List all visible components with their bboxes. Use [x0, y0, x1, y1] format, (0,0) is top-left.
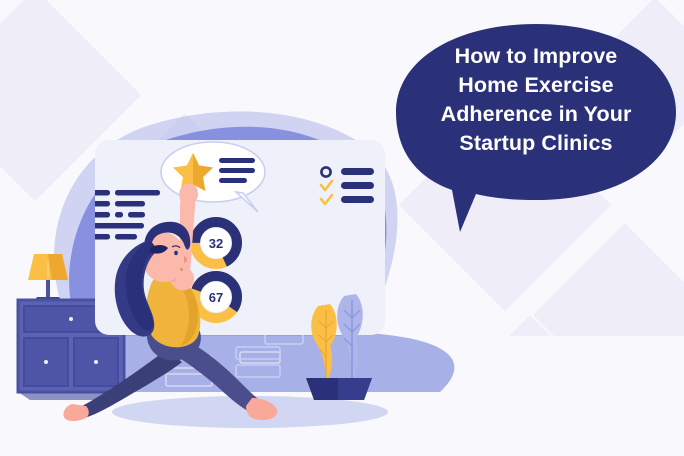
poster-canvas: 32 67: [0, 0, 684, 456]
headline-speech-bubble: [0, 0, 684, 456]
